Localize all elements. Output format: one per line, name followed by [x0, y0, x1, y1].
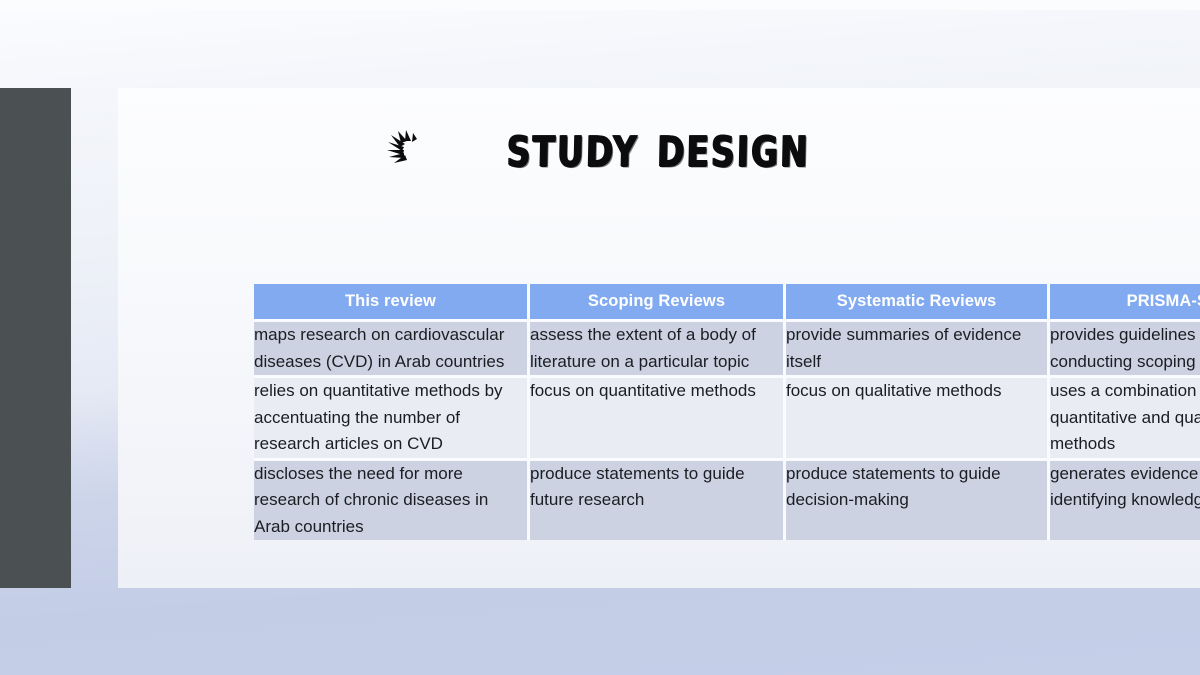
- table-cell: generates evidence maps identifying know…: [1050, 458, 1200, 541]
- slide-canvas: STUDY DESIGN This review Scoping Reviews…: [118, 88, 1200, 588]
- table-cell: uses a combination of quantitative and q…: [1050, 375, 1200, 458]
- table-cell: provides guidelines for conducting scopi…: [1050, 319, 1200, 375]
- table-cell: provide summaries of evidence itself: [786, 319, 1050, 375]
- column-header-this-review: This review: [254, 284, 530, 319]
- column-header-systematic-reviews: Systematic Reviews: [786, 284, 1050, 319]
- table-row: relies on quantitative methods by accent…: [254, 375, 1200, 458]
- left-dark-rail: [0, 88, 71, 588]
- table-cell: produce statements to guide decision-mak…: [786, 458, 1050, 541]
- column-header-prisma-scr: PRISMA-ScR: [1050, 284, 1200, 319]
- table-cell: relies on quantitative methods by accent…: [254, 375, 530, 458]
- table-header-row: This review Scoping Reviews Systematic R…: [254, 284, 1200, 319]
- table-cell: assess the extent of a body of literatur…: [530, 319, 786, 375]
- table-cell: focus on quantitative methods: [530, 375, 786, 458]
- table-row: discloses the need for more research of …: [254, 458, 1200, 541]
- study-design-comparison-table: This review Scoping Reviews Systematic R…: [254, 284, 1200, 540]
- presentation-page: STUDY DESIGN This review Scoping Reviews…: [0, 0, 1200, 675]
- table-cell: maps research on cardiovascular diseases…: [254, 319, 530, 375]
- column-header-scoping-reviews: Scoping Reviews: [530, 284, 786, 319]
- table-row: maps research on cardiovascular diseases…: [254, 319, 1200, 375]
- page-title: STUDY DESIGN: [117, 116, 1200, 176]
- table-cell: focus on qualitative methods: [786, 375, 1050, 458]
- table-cell: produce statements to guide future resea…: [530, 458, 786, 541]
- background-top-band: [0, 0, 1200, 10]
- table-cell: discloses the need for more research of …: [254, 458, 530, 541]
